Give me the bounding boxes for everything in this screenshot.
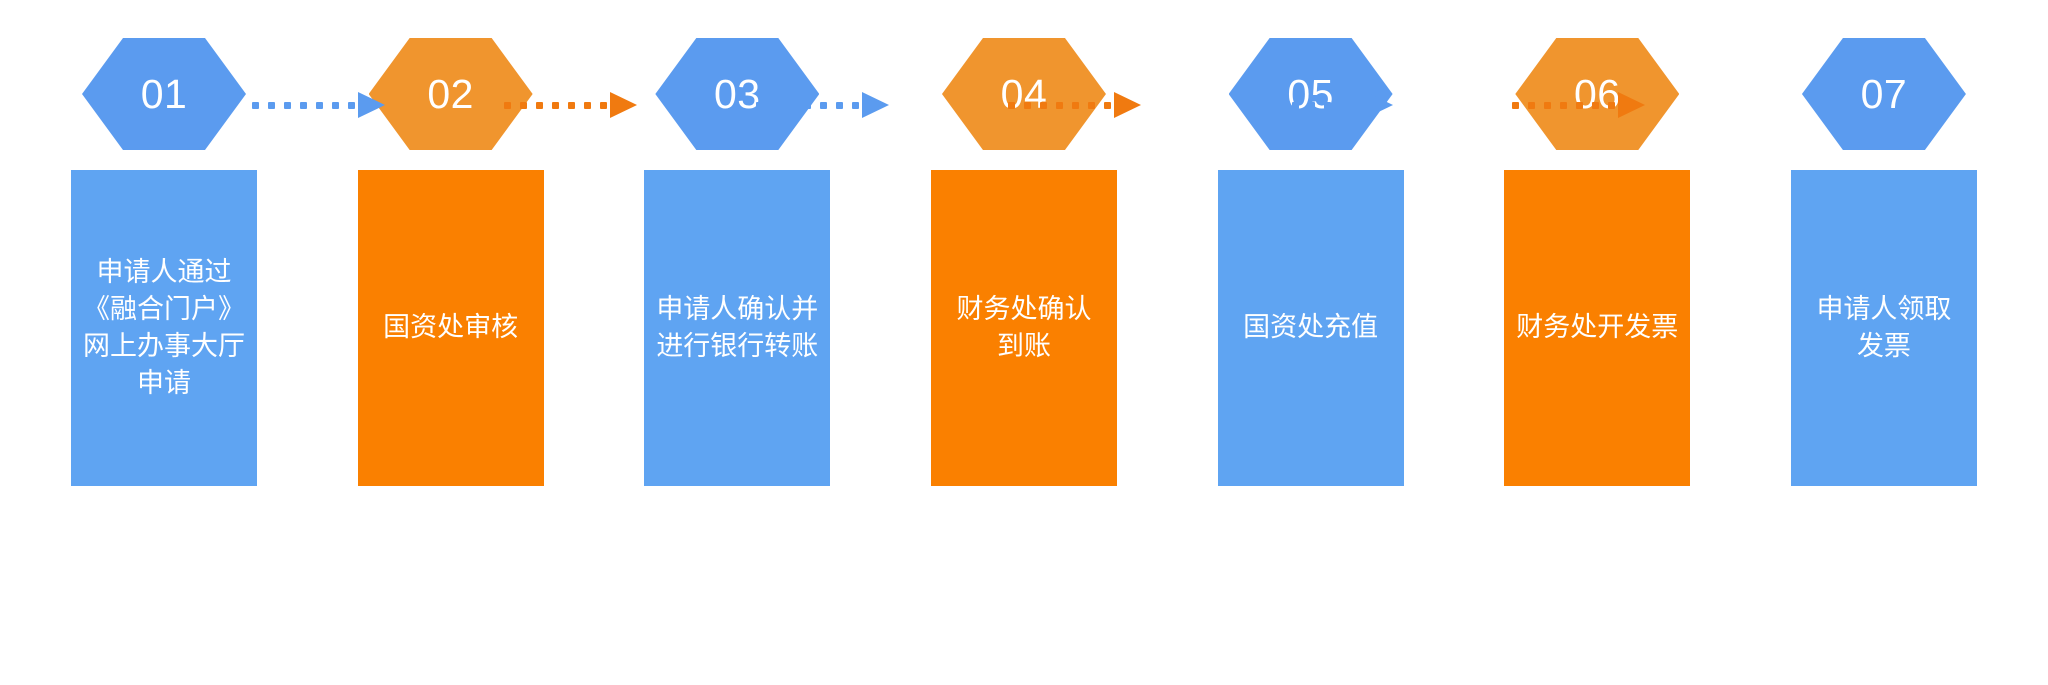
step-badge-wrap-04: 04 (898, 0, 1150, 150)
steps-row: 01申请人通过 《融合门户》 网上办事大厅 申请02国资处审核03申请人确认并 … (0, 0, 2048, 685)
step-badge-wrap-01: 01 (38, 0, 290, 150)
step-description-text: 国资处充值 (1243, 309, 1378, 346)
step-badge-wrap-07: 07 (1758, 0, 2010, 150)
step-column-02: 02国资处审核 (325, 0, 577, 685)
step-column-03: 03申请人确认并 进行银行转账 (611, 0, 863, 685)
step-description-card-04[interactable]: 财务处确认 到账 (931, 170, 1117, 486)
step-number-label: 07 (1861, 74, 1908, 115)
step-number-label: 05 (1287, 74, 1334, 115)
hexagon-icon-01[interactable]: 01 (82, 38, 246, 150)
step-description-text: 申请人确认并 进行银行转账 (656, 291, 818, 366)
step-description-card-02[interactable]: 国资处审核 (358, 170, 544, 486)
hexagon-icon-07[interactable]: 07 (1802, 38, 1966, 150)
step-description-card-01[interactable]: 申请人通过 《融合门户》 网上办事大厅 申请 (71, 170, 257, 486)
step-description-text: 财务处确认 到账 (956, 291, 1091, 366)
step-number-label: 03 (714, 74, 761, 115)
step-column-06: 06财务处开发票 (1471, 0, 1723, 685)
hexagon-icon-04[interactable]: 04 (942, 38, 1106, 150)
step-number-label: 04 (1001, 74, 1048, 115)
hexagon-icon-03[interactable]: 03 (655, 38, 819, 150)
step-description-text: 申请人通过 《融合门户》 网上办事大厅 申请 (83, 254, 245, 403)
step-badge-wrap-06: 06 (1471, 0, 1723, 150)
step-number-label: 01 (141, 74, 188, 115)
step-description-card-06[interactable]: 财务处开发票 (1504, 170, 1690, 486)
step-badge-wrap-03: 03 (611, 0, 863, 150)
step-column-07: 07申请人领取 发票 (1758, 0, 2010, 685)
step-description-card-03[interactable]: 申请人确认并 进行银行转账 (644, 170, 830, 486)
step-description-card-07[interactable]: 申请人领取 发票 (1791, 170, 1977, 486)
step-badge-wrap-05: 05 (1185, 0, 1437, 150)
hexagon-icon-05[interactable]: 05 (1229, 38, 1393, 150)
step-badge-wrap-02: 02 (325, 0, 577, 150)
step-description-text: 申请人领取 发票 (1816, 291, 1951, 366)
step-number-label: 02 (427, 74, 474, 115)
step-description-text: 财务处开发票 (1516, 309, 1678, 346)
process-flow-diagram: 01申请人通过 《融合门户》 网上办事大厅 申请02国资处审核03申请人确认并 … (0, 0, 2048, 685)
step-number-label: 06 (1574, 74, 1621, 115)
step-column-01: 01申请人通过 《融合门户》 网上办事大厅 申请 (38, 0, 290, 685)
hexagon-icon-02[interactable]: 02 (369, 38, 533, 150)
hexagon-icon-06[interactable]: 06 (1515, 38, 1679, 150)
step-column-04: 04财务处确认 到账 (898, 0, 1150, 685)
step-description-text: 国资处审核 (383, 309, 518, 346)
step-description-card-05[interactable]: 国资处充值 (1218, 170, 1404, 486)
step-column-05: 05国资处充值 (1185, 0, 1437, 685)
